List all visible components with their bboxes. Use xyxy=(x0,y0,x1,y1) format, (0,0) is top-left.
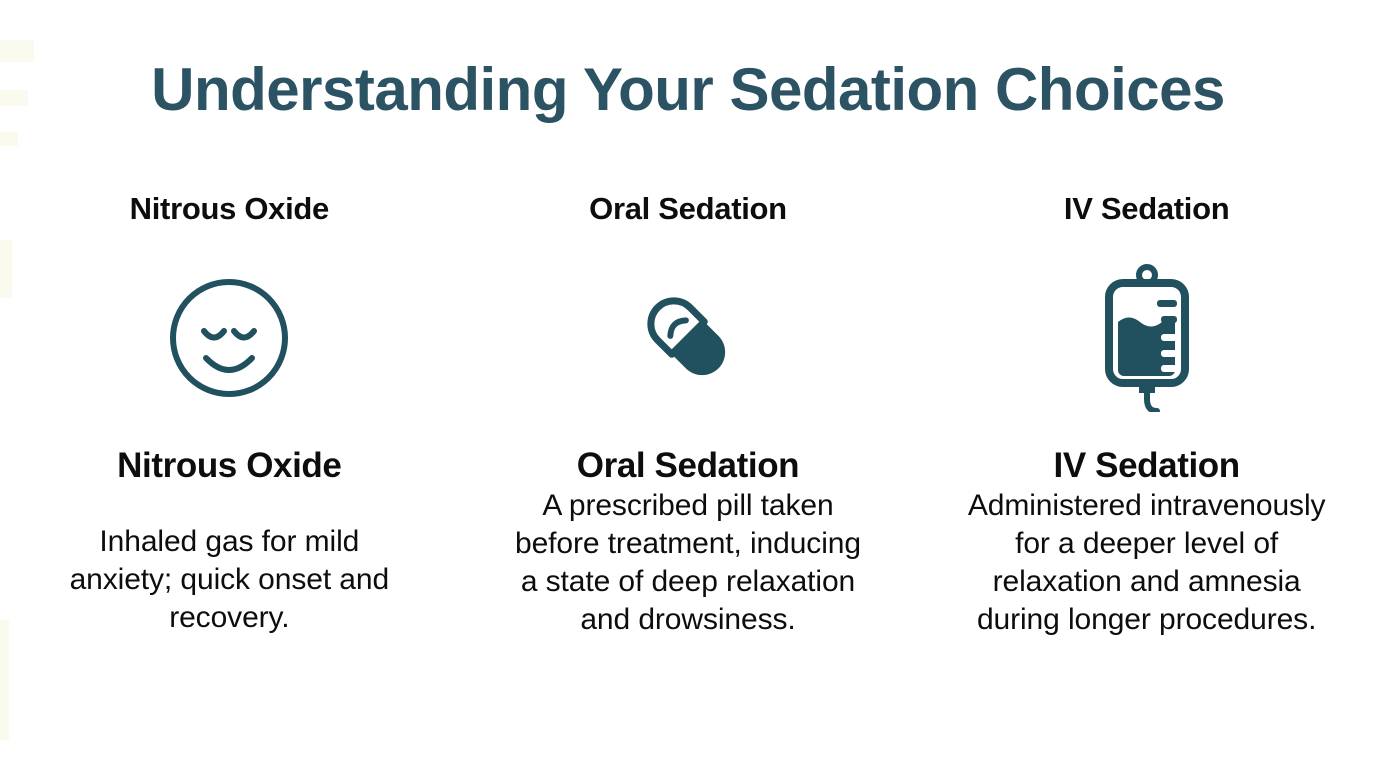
iv-drip-bag-icon xyxy=(1072,264,1222,412)
option-heading: Oral Sedation xyxy=(589,190,787,228)
option-description: A prescribed pill taken before treatment… xyxy=(504,487,872,639)
relaxed-face-icon xyxy=(154,264,304,412)
edge-artifact xyxy=(0,132,18,146)
option-label: Nitrous Oxide xyxy=(117,445,341,487)
option-label: Oral Sedation xyxy=(577,445,799,487)
option-heading: Nitrous Oxide xyxy=(130,190,329,228)
pill-capsule-icon xyxy=(613,264,763,412)
sedation-options-row: Nitrous Oxide Nitrous Oxide Inhaled gas … xyxy=(0,190,1376,639)
sedation-option-iv-sedation: IV Sedation xyxy=(917,190,1376,639)
option-description: Administered intravenously for a deeper … xyxy=(948,487,1346,639)
sedation-choices-slide: Understanding Your Sedation Choices Nitr… xyxy=(0,0,1376,768)
option-label: IV Sedation xyxy=(1054,445,1240,487)
sedation-option-oral-sedation: Oral Sedation Oral Sedation A prescribed… xyxy=(459,190,918,639)
option-description: Inhaled gas for mild anxiety; quick onse… xyxy=(54,523,404,637)
page-title: Understanding Your Sedation Choices xyxy=(0,53,1376,127)
sedation-option-nitrous-oxide: Nitrous Oxide Nitrous Oxide Inhaled gas … xyxy=(0,190,459,639)
option-heading: IV Sedation xyxy=(1064,190,1230,228)
